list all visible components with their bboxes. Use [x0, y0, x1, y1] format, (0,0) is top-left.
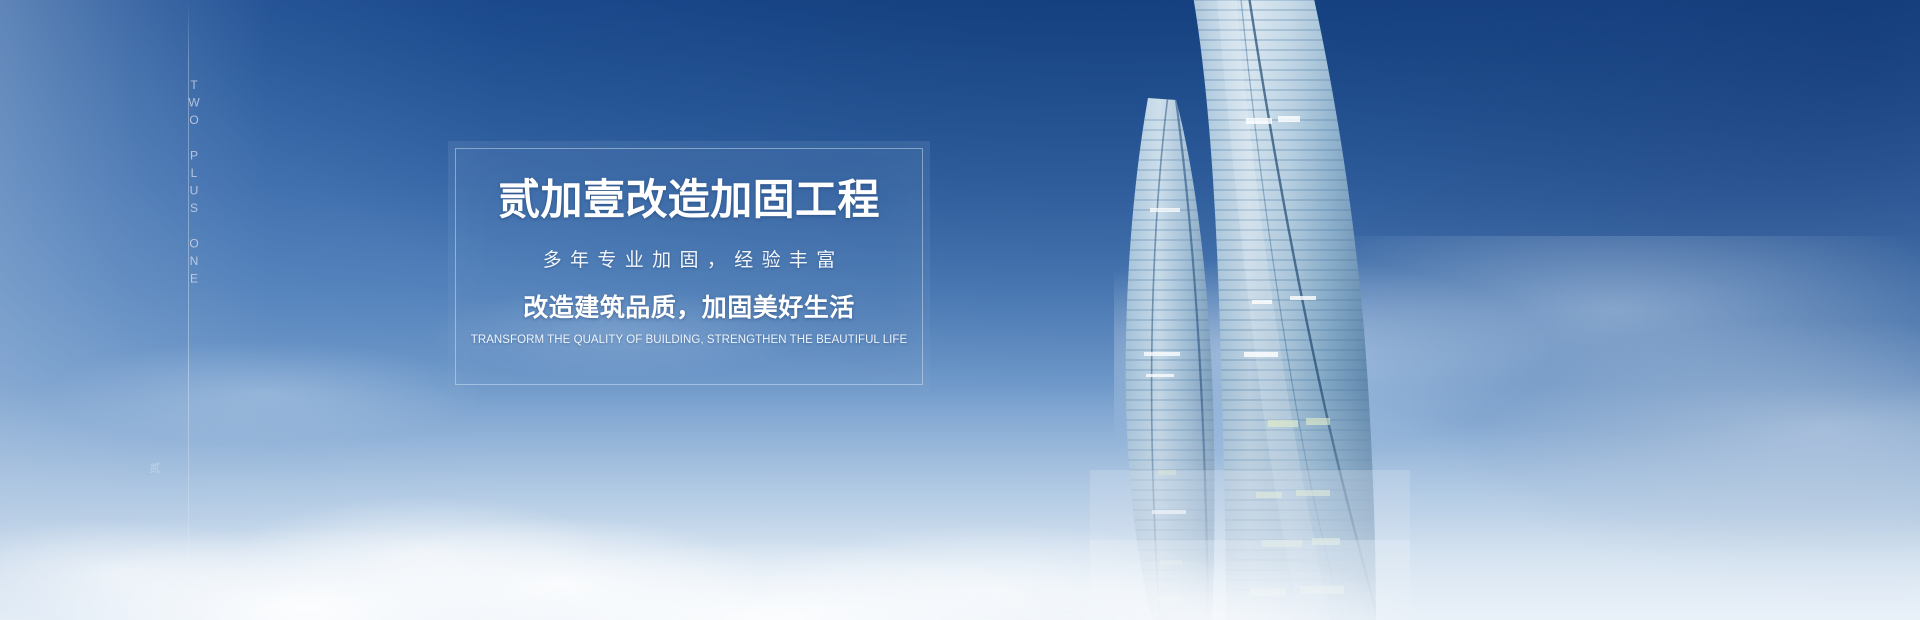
- cloud-bank-bottom: [0, 320, 1920, 620]
- panel-content: 贰加壹改造加固工程 多年专业加固，经验丰富 改造建筑品质，加固美好生活 TRAN…: [448, 141, 930, 392]
- hero-headline: 贰加壹改造加固工程: [498, 179, 880, 221]
- hero-text-panel: 贰加壹改造加固工程 多年专业加固，经验丰富 改造建筑品质，加固美好生活 TRAN…: [448, 141, 930, 392]
- brand-vertical-text: TWO PLUS ONE: [178, 78, 200, 289]
- hero-tagline-english: TRANSFORM THE QUALITY OF BUILDING, STREN…: [471, 335, 907, 347]
- brand-mark-glyph: 贰: [146, 462, 162, 475]
- hero-banner: TWO PLUS ONE 贰 贰加壹改造加固工程 多年专业加固，经验丰富 改造建…: [0, 0, 1920, 620]
- hero-tagline: 改造建筑品质，加固美好生活: [523, 296, 855, 321]
- hero-subheadline: 多年专业加固，经验丰富: [534, 251, 843, 270]
